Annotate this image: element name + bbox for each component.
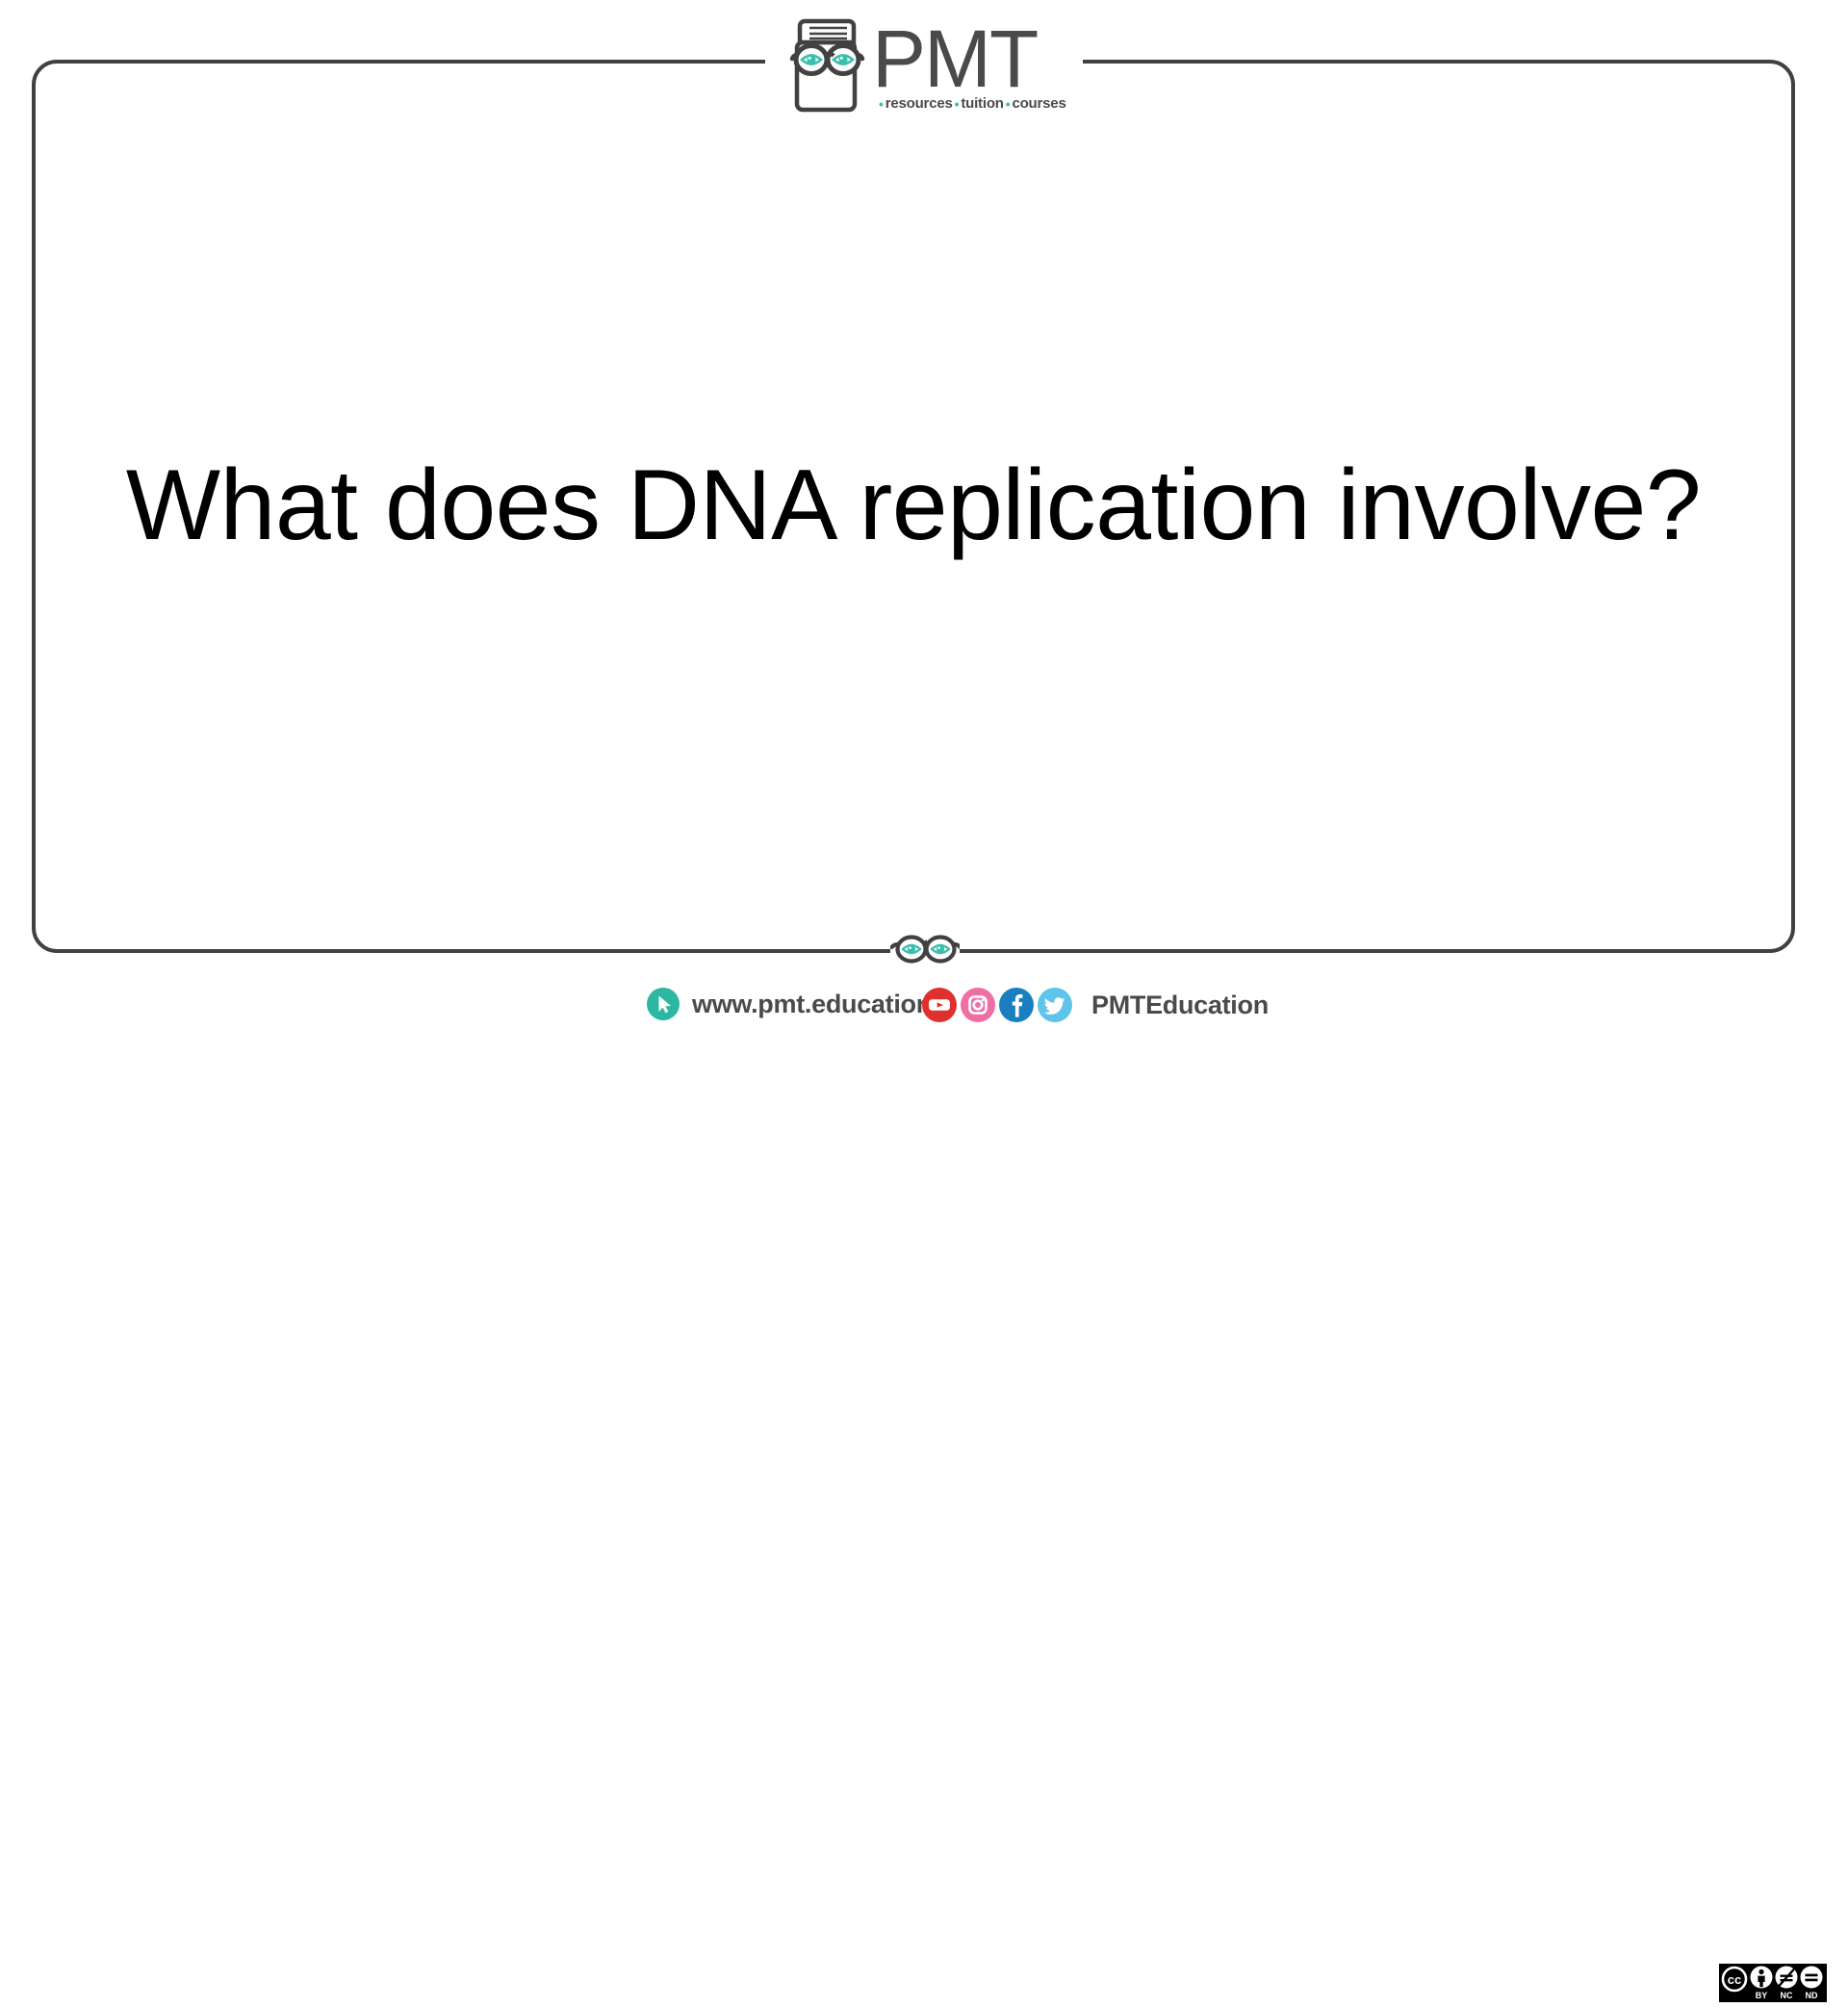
website-label: www.pmt.education [692, 990, 932, 1019]
cc-term-nd: ND [1806, 1991, 1818, 2000]
cc-term-nc: NC [1781, 1991, 1793, 2000]
footer: www.pmt.education [0, 980, 1848, 1040]
instagram-icon[interactable] [961, 988, 995, 1022]
question-text: What does DNA replication involve? [126, 449, 1701, 564]
svg-text:cc: cc [1728, 1972, 1741, 1987]
twitter-icon[interactable] [1038, 988, 1072, 1022]
cursor-icon [647, 988, 680, 1020]
facebook-icon[interactable] [999, 988, 1034, 1022]
cc-term-by: BY [1756, 1991, 1768, 2000]
website-link[interactable]: www.pmt.education [647, 988, 932, 1020]
slide-content: What does DNA replication involve? [32, 60, 1795, 953]
creative-commons-badge[interactable]: cc BY NC ND [1719, 1964, 1827, 2002]
social-handle: PMTEducation [1091, 991, 1269, 1020]
frame-glasses-icon [890, 932, 960, 965]
youtube-icon[interactable] [922, 988, 957, 1022]
social-links: PMTEducation [922, 988, 1269, 1022]
